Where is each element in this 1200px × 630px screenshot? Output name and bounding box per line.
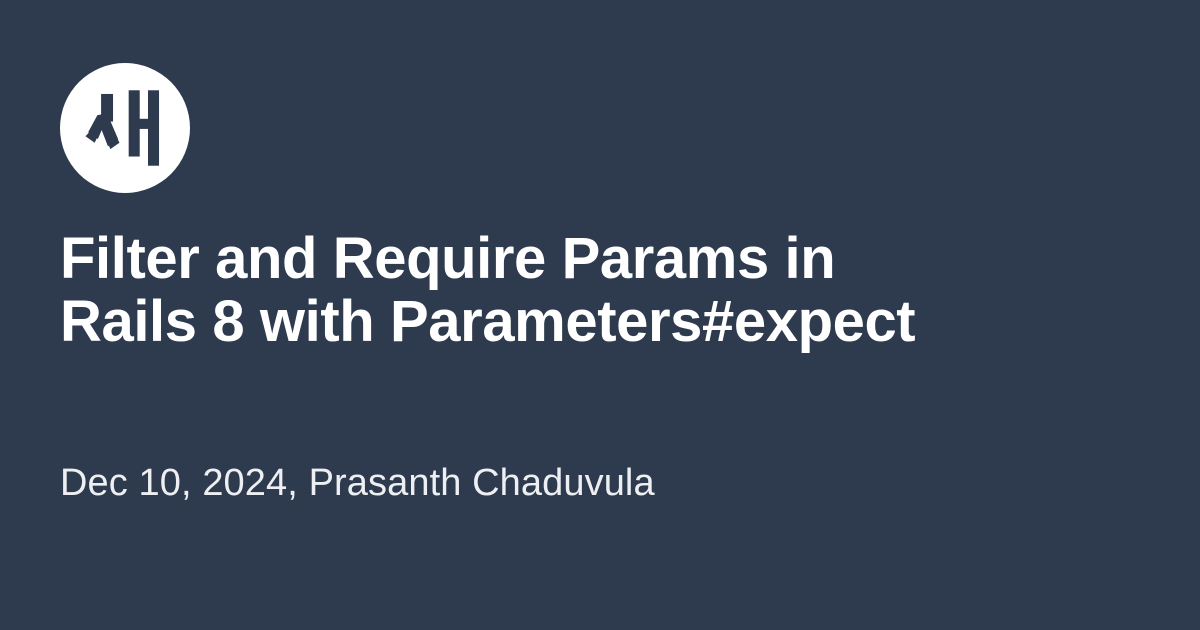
hangul-sae-logo-icon	[79, 82, 171, 174]
page-title: Filter and Require Params in Rails 8 wit…	[60, 227, 940, 353]
og-share-card: Filter and Require Params in Rails 8 wit…	[0, 0, 1200, 630]
brand-logo	[60, 63, 190, 193]
byline: Dec 10, 2024, Prasanth Chaduvula	[60, 461, 655, 505]
